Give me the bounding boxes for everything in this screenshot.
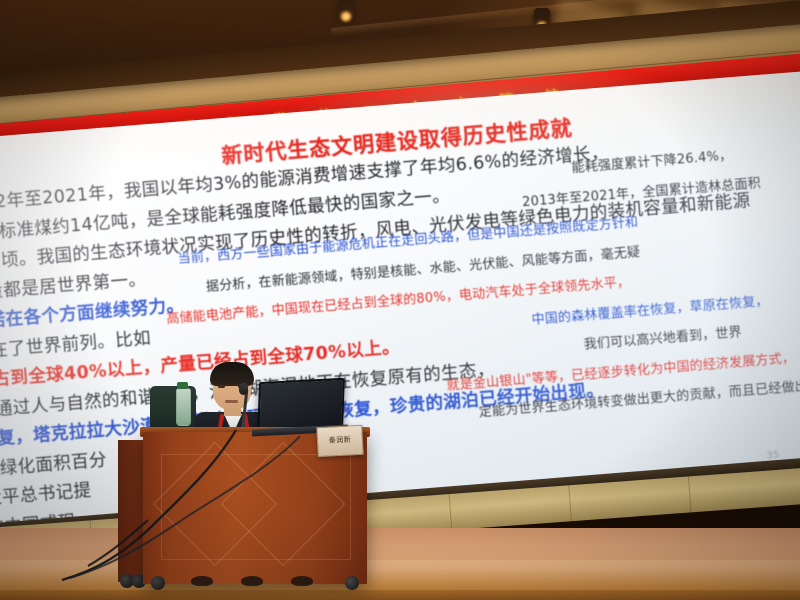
stage-light-icon bbox=[338, 0, 354, 20]
water-bottle bbox=[176, 388, 191, 426]
mouth bbox=[225, 400, 238, 403]
conference-hall-photo: 学 习 贯 彻 党 的 二 十 大 精 神 新时代生态文明建设取得历史性成就 2… bbox=[0, 0, 800, 600]
speaker-hair bbox=[210, 362, 254, 386]
nameplate-text: 秦润新 bbox=[318, 434, 362, 446]
podium-side-panel bbox=[118, 440, 146, 582]
floor-front-edge bbox=[0, 590, 800, 600]
microphone-icon bbox=[239, 383, 248, 395]
bottle-cap bbox=[177, 382, 188, 389]
nameplate: 秦润新 bbox=[316, 425, 364, 457]
eye bbox=[218, 385, 225, 388]
